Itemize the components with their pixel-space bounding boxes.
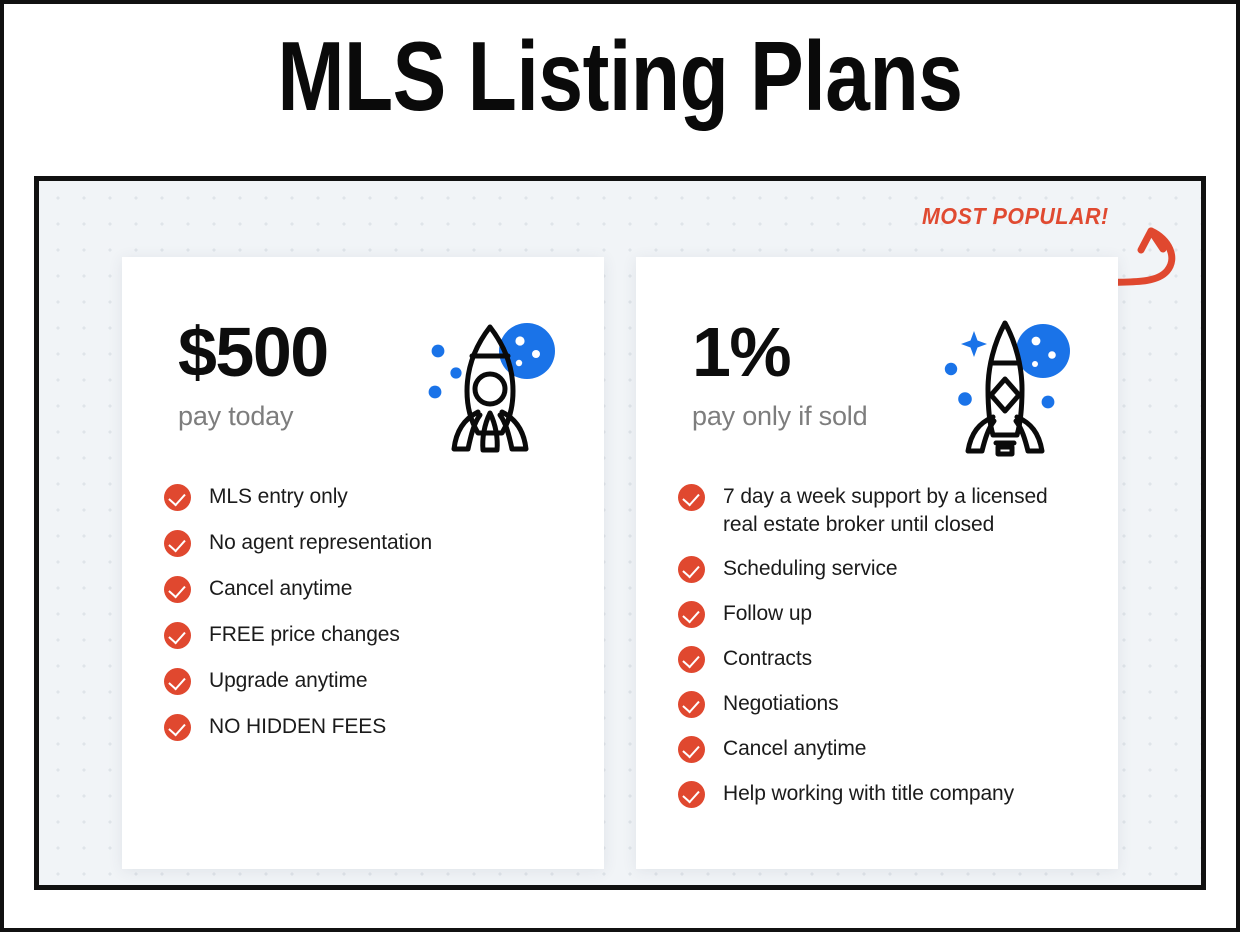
plans-panel: MOST POPULAR! $500 pay today [34,176,1206,890]
price-block-basic: $500 pay today [178,305,328,432]
list-item: NO HIDDEN FEES [164,713,570,741]
rocket-round-window-icon [416,309,566,459]
feature-label: Follow up [723,600,812,628]
feature-label: Cancel anytime [723,735,866,763]
plan-card-basic[interactable]: $500 pay today [122,257,604,869]
plan-cards: $500 pay today [39,257,1201,869]
feature-label: Scheduling service [723,555,897,583]
rocket-diamond-window-icon [930,309,1080,459]
plan-price: 1% [692,317,867,387]
plan-price-note: pay today [178,401,328,432]
feature-label: 7 day a week support by a licensed real … [723,483,1084,538]
list-item: Scheduling service [678,555,1084,583]
feature-label: Cancel anytime [209,575,352,603]
check-icon [678,556,705,583]
plan-header-basic: $500 pay today [156,291,570,461]
check-icon [678,691,705,718]
check-icon [164,668,191,695]
check-icon [164,576,191,603]
check-icon [164,622,191,649]
check-icon [164,714,191,741]
feature-label: FREE price changes [209,621,400,649]
check-icon [678,736,705,763]
check-icon [678,646,705,673]
page-title-wrap: MLS Listing Plans [4,22,1236,132]
feature-label: Upgrade anytime [209,667,367,695]
list-item: Cancel anytime [164,575,570,603]
check-icon [164,484,191,511]
list-item: Help working with title company [678,780,1084,808]
list-item: Follow up [678,600,1084,628]
plan-price-note: pay only if sold [692,401,867,432]
feature-label: Negotiations [723,690,839,718]
plan-price: $500 [178,317,328,387]
feature-list-basic: MLS entry only No agent representation C… [156,483,570,741]
price-block-commission: 1% pay only if sold [692,305,867,432]
check-icon [678,484,705,511]
plan-card-commission[interactable]: 1% pay only if sold [636,257,1118,869]
check-icon [678,601,705,628]
check-icon [164,530,191,557]
list-item: Contracts [678,645,1084,673]
plan-header-commission: 1% pay only if sold [670,291,1084,461]
feature-list-commission: 7 day a week support by a licensed real … [670,483,1084,808]
poster-page: MLS Listing Plans MOST POPULAR! $500 pay… [0,0,1240,932]
feature-label: No agent representation [209,529,432,557]
list-item: 7 day a week support by a licensed real … [678,483,1084,538]
feature-label: Help working with title company [723,780,1014,808]
page-title: MLS Listing Plans [115,22,1125,132]
feature-label: MLS entry only [209,483,348,511]
list-item: Upgrade anytime [164,667,570,695]
feature-label: NO HIDDEN FEES [209,713,386,741]
list-item: No agent representation [164,529,570,557]
list-item: Negotiations [678,690,1084,718]
check-icon [678,781,705,808]
list-item: FREE price changes [164,621,570,649]
list-item: Cancel anytime [678,735,1084,763]
list-item: MLS entry only [164,483,570,511]
feature-label: Contracts [723,645,812,673]
